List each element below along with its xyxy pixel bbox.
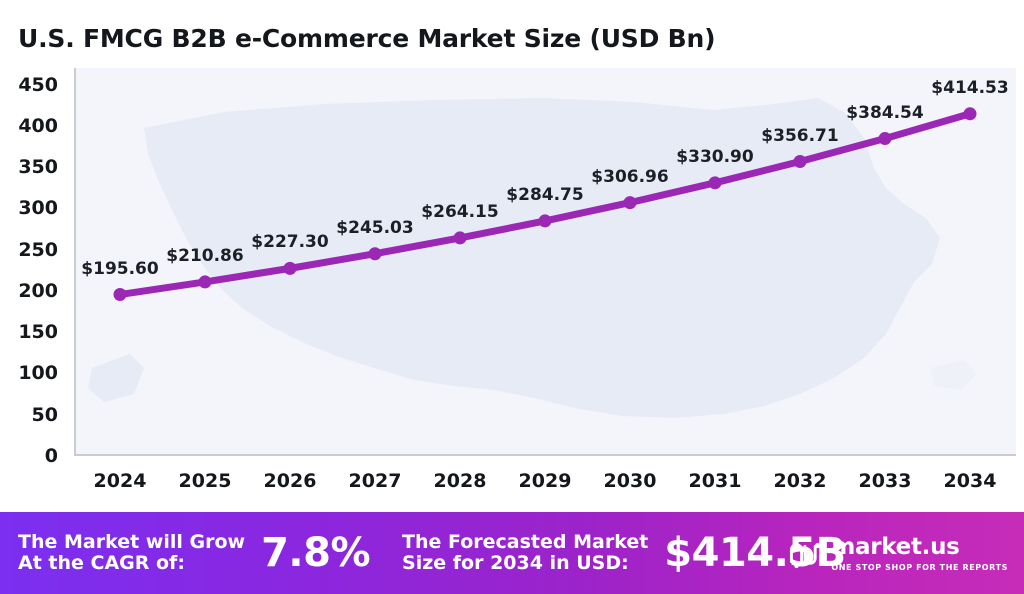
y-axis-labels: 050100150200250300350400450 bbox=[0, 68, 66, 456]
y-tick-label: 150 bbox=[18, 321, 58, 343]
brand-tagline: ONE STOP SHOP FOR THE REPORTS bbox=[831, 563, 1008, 572]
line-series bbox=[74, 68, 1016, 456]
cagr-value: 7.8% bbox=[261, 530, 370, 576]
x-tick-label: 2024 bbox=[94, 470, 147, 492]
brand-name: market.us bbox=[831, 536, 1008, 559]
data-point-marker bbox=[454, 231, 467, 244]
series-markers bbox=[114, 107, 977, 301]
cagr-label-line2: At the CAGR of: bbox=[18, 553, 245, 574]
data-point-marker bbox=[114, 288, 127, 301]
data-point-marker bbox=[879, 132, 892, 145]
brand-text: market.us ONE STOP SHOP FOR THE REPORTS bbox=[831, 536, 1008, 572]
footer-banner: The Market will Grow At the CAGR of: 7.8… bbox=[0, 512, 1024, 594]
y-tick-label: 0 bbox=[45, 445, 58, 467]
x-tick-label: 2029 bbox=[519, 470, 572, 492]
market-us-logo-icon bbox=[788, 539, 822, 569]
page-title: U.S. FMCG B2B e-Commerce Market Size (US… bbox=[18, 24, 715, 53]
x-tick-label: 2026 bbox=[264, 470, 317, 492]
data-point-marker bbox=[284, 262, 297, 275]
y-tick-label: 200 bbox=[18, 280, 58, 302]
brand-logo[interactable]: market.us ONE STOP SHOP FOR THE REPORTS bbox=[788, 536, 1008, 572]
series-line bbox=[120, 114, 970, 295]
forecast-label: The Forecasted Market Size for 2034 in U… bbox=[402, 532, 648, 575]
y-tick-label: 400 bbox=[18, 115, 58, 137]
x-tick-label: 2034 bbox=[944, 470, 997, 492]
data-point-marker bbox=[539, 214, 552, 227]
y-tick-label: 250 bbox=[18, 239, 58, 261]
y-tick-label: 50 bbox=[32, 404, 58, 426]
x-axis-labels: 2024202520262027202820292030203120322033… bbox=[74, 470, 1016, 504]
y-tick-label: 100 bbox=[18, 362, 58, 384]
y-tick-label: 300 bbox=[18, 197, 58, 219]
data-point-marker bbox=[624, 196, 637, 209]
y-tick-label: 350 bbox=[18, 156, 58, 178]
data-point-marker bbox=[794, 155, 807, 168]
forecast-block: The Forecasted Market Size for 2034 in U… bbox=[370, 512, 846, 594]
x-tick-label: 2031 bbox=[689, 470, 742, 492]
x-tick-label: 2030 bbox=[604, 470, 657, 492]
data-point-marker bbox=[369, 247, 382, 260]
cagr-label-line1: The Market will Grow bbox=[18, 532, 245, 553]
cagr-label: The Market will Grow At the CAGR of: bbox=[18, 532, 245, 575]
forecast-label-line2: Size for 2034 in USD: bbox=[402, 553, 648, 574]
x-tick-label: 2033 bbox=[859, 470, 912, 492]
chart-page: U.S. FMCG B2B e-Commerce Market Size (US… bbox=[0, 0, 1024, 594]
x-tick-label: 2032 bbox=[774, 470, 827, 492]
forecast-label-line1: The Forecasted Market bbox=[402, 532, 648, 553]
data-point-marker bbox=[964, 107, 977, 120]
x-tick-label: 2027 bbox=[349, 470, 402, 492]
data-point-marker bbox=[199, 275, 212, 288]
x-tick-label: 2025 bbox=[179, 470, 232, 492]
y-tick-label: 450 bbox=[18, 74, 58, 96]
data-point-marker bbox=[709, 176, 722, 189]
x-tick-label: 2028 bbox=[434, 470, 487, 492]
cagr-block: The Market will Grow At the CAGR of: 7.8… bbox=[0, 512, 370, 594]
